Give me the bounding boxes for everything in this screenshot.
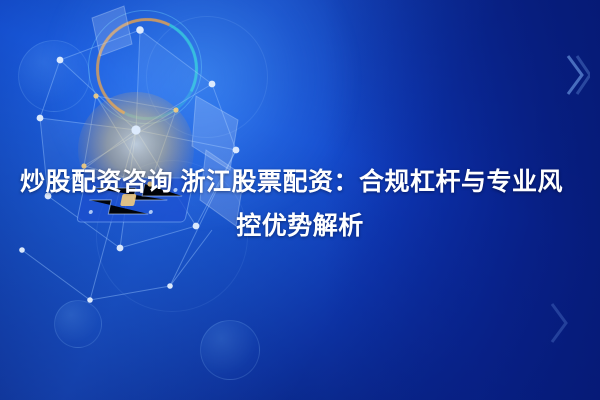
headline-line-2: 控优势解析 bbox=[14, 204, 586, 248]
banner-image: 炒股配资咨询 浙江股票配资：合规杠杆与专业风 控优势解析 bbox=[0, 0, 600, 400]
chevron-right-icon bbox=[548, 300, 574, 346]
chevron-right-icon bbox=[564, 52, 590, 98]
headline-line-1: 炒股配资咨询 浙江股票配资：合规杠杆与专业风 bbox=[14, 160, 586, 204]
page-title: 炒股配资咨询 浙江股票配资：合规杠杆与专业风 控优势解析 bbox=[0, 160, 600, 248]
